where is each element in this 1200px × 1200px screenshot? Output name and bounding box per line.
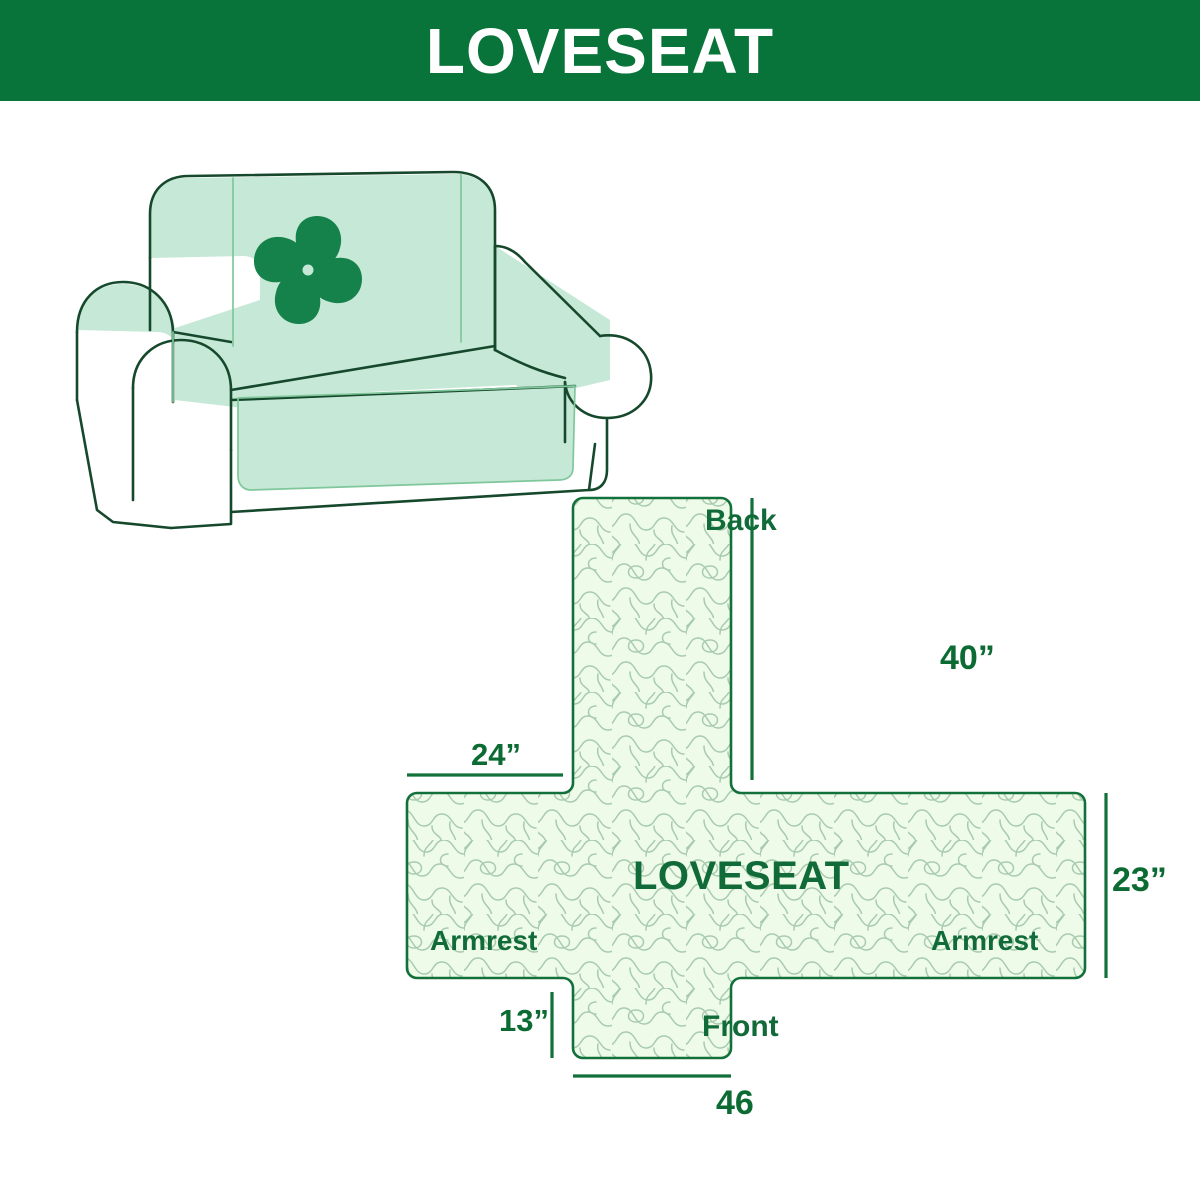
body-left-base-inner [171, 450, 231, 528]
dimension-armrest-width: 24” [471, 737, 521, 773]
diagram-center-label: LOVESEAT [633, 854, 850, 899]
dimension-seat-height: 23” [1112, 861, 1167, 900]
dimension-front-height: 13” [499, 1003, 549, 1039]
body-left-base [77, 400, 171, 528]
section-label-armrest-left: Armrest [430, 925, 537, 957]
cover-pattern-diagram [390, 470, 1200, 1150]
section-label-front: Front [702, 1010, 779, 1044]
cover-pattern-svg [390, 470, 1200, 1150]
dimension-rules [407, 498, 1106, 1076]
dimension-back-height: 40” [940, 639, 995, 678]
section-label-back: Back [705, 504, 777, 538]
cover-outline-shape [407, 498, 1085, 1058]
product-size-chart: LOVESEAT [0, 0, 1200, 1200]
header-bar: LOVESEAT [0, 0, 1200, 101]
section-label-armrest-right: Armrest [931, 925, 1038, 957]
dimension-front-width: 46 [716, 1084, 754, 1123]
page-title: LOVESEAT [426, 19, 774, 83]
